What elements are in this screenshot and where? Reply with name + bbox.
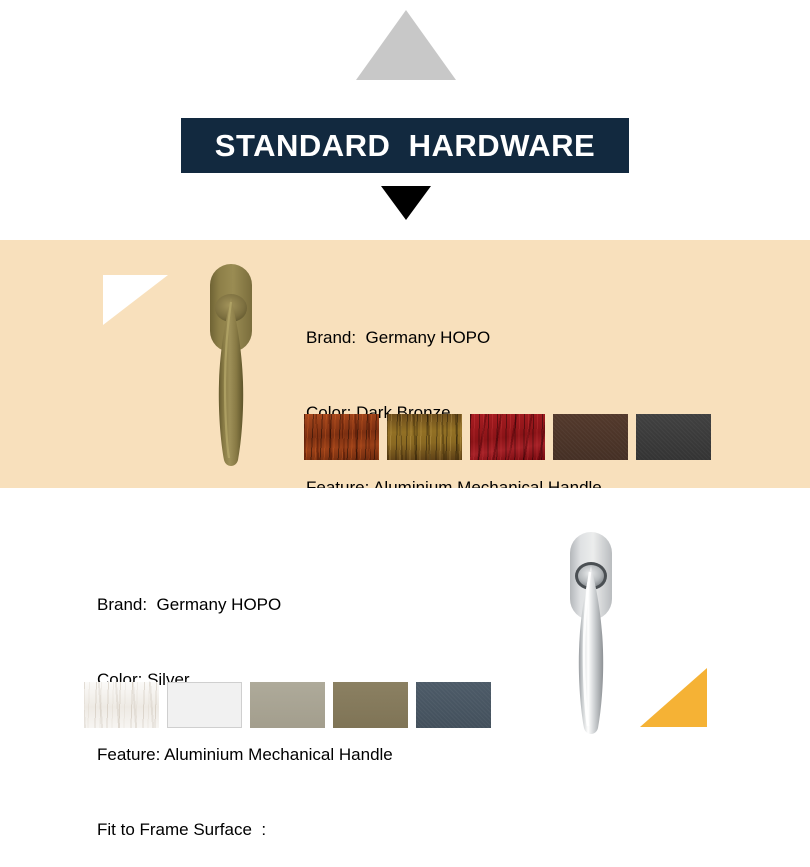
swatch-teak[interactable] bbox=[387, 414, 462, 460]
swatch-row-dark-bronze bbox=[304, 414, 711, 460]
triangle-white-accent-icon bbox=[103, 275, 168, 325]
swatch-taupe-grey[interactable] bbox=[250, 682, 325, 728]
triangle-orange-accent-icon bbox=[640, 668, 707, 727]
silver-window-handle bbox=[556, 530, 626, 742]
page-title: STANDARD HARDWARE bbox=[215, 128, 595, 164]
triangle-up-grey-icon bbox=[356, 10, 456, 80]
swatch-cherry-red[interactable] bbox=[470, 414, 545, 460]
swatch-slate-blue-grey[interactable] bbox=[416, 682, 491, 728]
triangle-down-black-icon bbox=[381, 186, 431, 220]
swatch-olive-khaki[interactable] bbox=[333, 682, 408, 728]
swatch-rosewood[interactable] bbox=[304, 414, 379, 460]
spec-brand: Brand: Germany HOPO bbox=[306, 325, 602, 350]
spec-feature: Feature: Aluminium Mechanical Handle bbox=[97, 742, 393, 767]
swatch-plain-white[interactable] bbox=[167, 682, 242, 728]
swatch-dark-brown[interactable] bbox=[553, 414, 628, 460]
header-banner: STANDARD HARDWARE bbox=[0, 0, 810, 240]
swatch-white-wood[interactable] bbox=[84, 682, 159, 728]
bronze-window-handle bbox=[196, 262, 266, 474]
spec-fit: Fit to Frame Surface : bbox=[97, 817, 393, 842]
spec-brand: Brand: Germany HOPO bbox=[97, 592, 393, 617]
page-title-bar: STANDARD HARDWARE bbox=[181, 118, 629, 173]
swatch-charcoal[interactable] bbox=[636, 414, 711, 460]
swatch-row-silver bbox=[84, 682, 491, 728]
